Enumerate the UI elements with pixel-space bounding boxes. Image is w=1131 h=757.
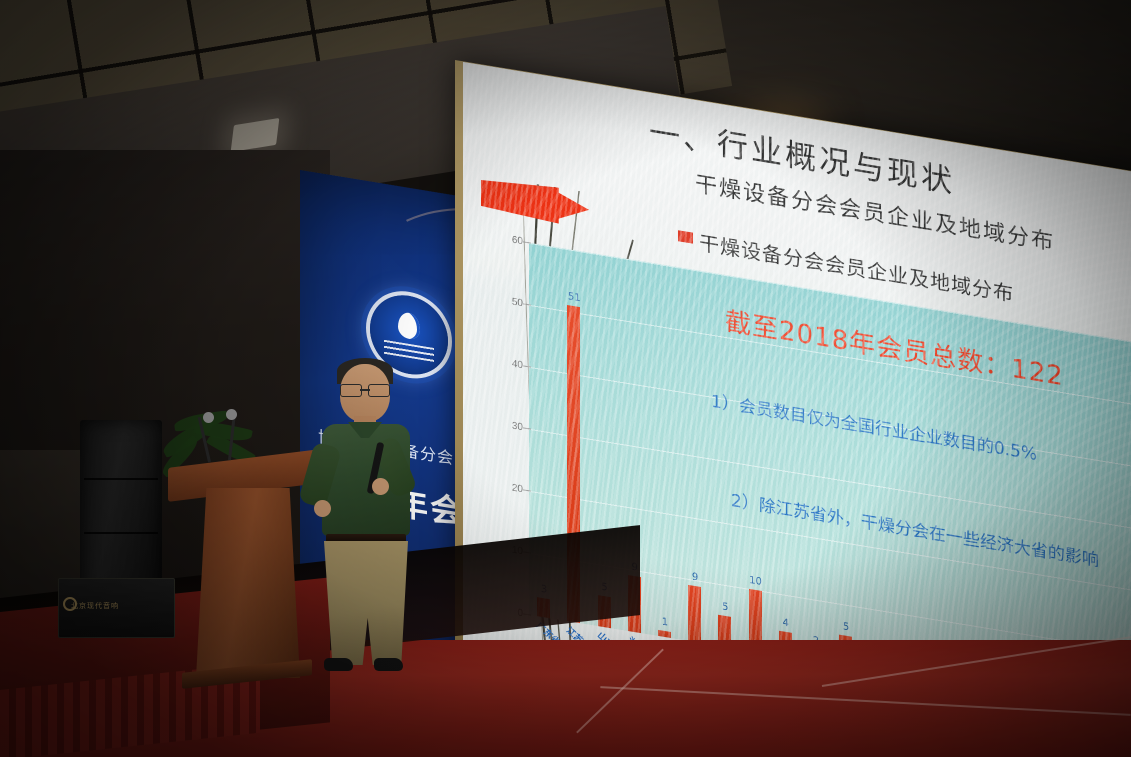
microphone-head-icon <box>203 412 214 423</box>
y-axis-tick-label: 50 <box>512 297 523 310</box>
bar <box>688 585 701 643</box>
amplifier-rack: 北京现代音响 <box>58 578 175 638</box>
bullet-square-icon <box>678 230 693 243</box>
y-axis-tick-label: 40 <box>512 359 523 372</box>
bar-value-label: 1 <box>651 615 679 631</box>
bar-value-label: 10 <box>742 574 770 590</box>
right-shoe <box>374 658 403 671</box>
trousers <box>324 541 408 665</box>
right-hand <box>372 478 389 495</box>
y-axis-tick-label: 30 <box>512 421 523 434</box>
bar <box>658 630 671 638</box>
bar-item: 9 <box>681 268 709 645</box>
bar-value-label: 4 <box>772 616 800 632</box>
red-arrow-icon <box>481 175 589 229</box>
bar-item: 1 <box>651 263 679 640</box>
speaker-brand-label: 北京现代音响 <box>71 601 119 611</box>
y-axis-tick-label: 60 <box>512 235 523 248</box>
bar-value-label: 9 <box>681 570 709 586</box>
left-shoe <box>324 658 353 671</box>
left-hand <box>314 500 331 517</box>
bar-value-label: 5 <box>832 619 860 635</box>
bar-value-label: 5 <box>711 600 739 616</box>
microphone-head-icon <box>226 409 237 420</box>
conference-room-photo: 协会干燥设备分会 业年会 一、行业概况与现状 干燥设备分会会员企业及地域分布 干… <box>0 0 1131 757</box>
podium-body <box>196 488 300 678</box>
y-axis-tick-label: 20 <box>512 483 523 496</box>
presenter <box>300 358 432 688</box>
glasses-icon <box>340 384 390 395</box>
bar-value-label: 51 <box>560 290 588 306</box>
